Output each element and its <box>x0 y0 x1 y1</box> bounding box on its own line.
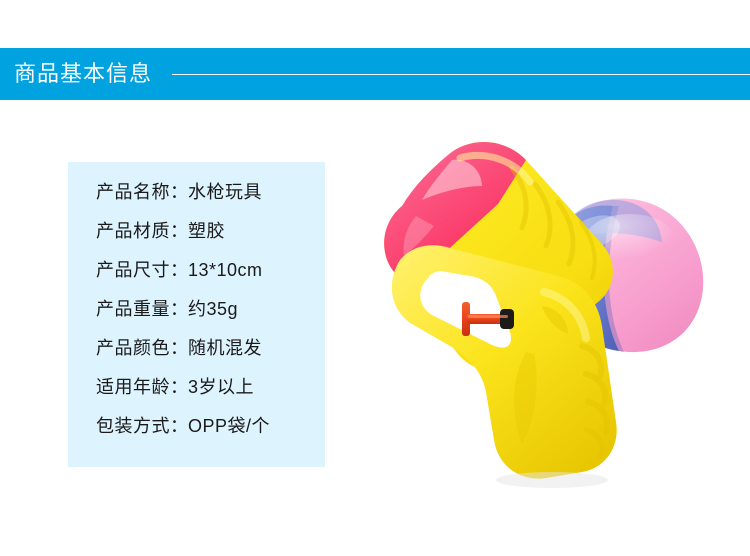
product-image-water-gun <box>330 120 730 500</box>
spec-value: OPP袋/个 <box>188 412 270 438</box>
spec-value: 随机混发 <box>188 334 262 360</box>
header-divider-line <box>172 74 750 75</box>
spec-value: 塑胶 <box>188 217 225 243</box>
plunger-highlight <box>468 315 508 318</box>
spec-label: 产品颜色 <box>96 334 170 360</box>
spec-value: 3岁以上 <box>188 373 254 399</box>
spec-row: 适用年龄 ： 3岁以上 <box>96 373 325 412</box>
plunger-collar <box>500 309 514 329</box>
spec-row: 产品重量 ： 约35g <box>96 295 325 334</box>
spec-row: 产品颜色 ： 随机混发 <box>96 334 325 373</box>
spec-label: 产品名称 <box>96 178 170 204</box>
spec-colon: ： <box>170 217 188 243</box>
spec-colon: ： <box>170 334 188 360</box>
water-gun-illustration <box>330 120 730 500</box>
spec-colon: ： <box>170 256 188 282</box>
spec-label: 产品尺寸 <box>96 256 170 282</box>
spec-label: 产品材质 <box>96 217 170 243</box>
spec-label: 适用年龄 <box>96 373 170 399</box>
spec-label: 包装方式 <box>96 412 170 438</box>
spec-value: 13*10cm <box>188 260 263 281</box>
spec-label: 产品重量 <box>96 295 170 321</box>
product-shadow <box>496 472 608 488</box>
spec-value: 约35g <box>188 295 238 321</box>
product-spec-panel: 产品名称 ： 水枪玩具 产品材质 ： 塑胶 产品尺寸 ： 13*10cm 产品重… <box>68 162 325 467</box>
section-header-banner: 商品基本信息 <box>0 48 750 100</box>
spec-row: 产品名称 ： 水枪玩具 <box>96 178 325 217</box>
spec-colon: ： <box>170 412 188 438</box>
spec-row: 产品尺寸 ： 13*10cm <box>96 256 325 295</box>
spec-value: 水枪玩具 <box>188 178 262 204</box>
spec-row: 包装方式 ： OPP袋/个 <box>96 412 325 451</box>
page-title: 商品基本信息 <box>14 63 152 85</box>
spec-colon: ： <box>170 373 188 399</box>
spec-colon: ： <box>170 178 188 204</box>
spec-colon: ： <box>170 295 188 321</box>
spec-row: 产品材质 ： 塑胶 <box>96 217 325 256</box>
